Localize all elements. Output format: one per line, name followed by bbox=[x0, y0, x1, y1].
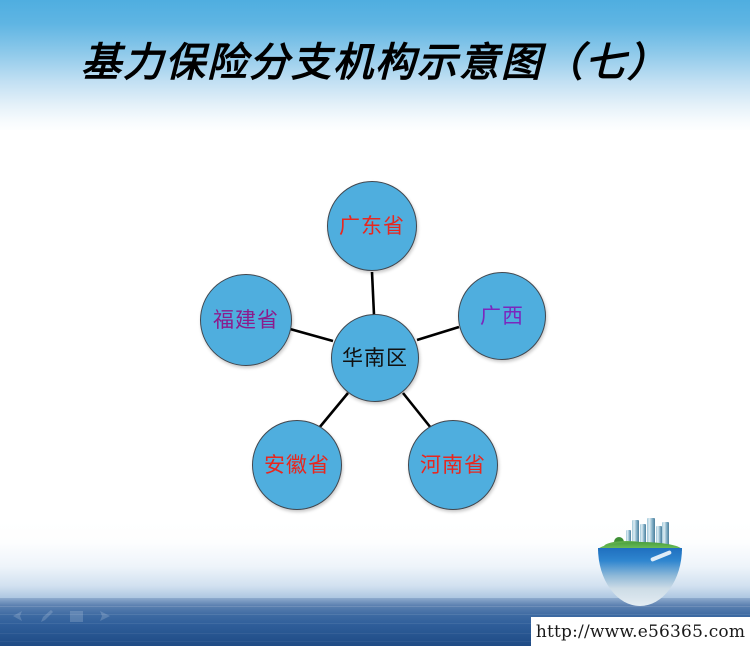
next-arrow-icon[interactable] bbox=[95, 607, 115, 625]
diagram-node-label: 华南区 bbox=[342, 348, 408, 369]
connector-center-to-anhui bbox=[319, 393, 348, 428]
connector-center-to-guangxi bbox=[417, 327, 459, 340]
diagram-node-anhui[interactable]: 安徽省 bbox=[252, 420, 342, 510]
diagram-node-label: 福建省 bbox=[213, 310, 279, 331]
pen-icon[interactable] bbox=[37, 607, 57, 625]
connector-center-to-fujian bbox=[290, 329, 333, 341]
watermark-bar: http://www.e56365.com bbox=[531, 617, 750, 646]
slideshow-nav-controls[interactable] bbox=[8, 607, 120, 627]
diagram-node-guangxi[interactable]: 广西 bbox=[458, 272, 546, 360]
diagram-node-henan[interactable]: 河南省 bbox=[408, 420, 498, 510]
diagram-node-label: 安徽省 bbox=[264, 455, 330, 476]
connector-center-to-guangdong bbox=[372, 272, 374, 315]
diagram-node-fujian[interactable]: 福建省 bbox=[200, 274, 292, 366]
diagram-node-label: 广东省 bbox=[339, 216, 405, 237]
globe-city-graphic bbox=[592, 520, 688, 606]
globe-sphere bbox=[598, 548, 682, 606]
previous-arrow-icon[interactable] bbox=[8, 607, 28, 625]
diagram-node-label: 河南省 bbox=[420, 455, 486, 476]
connector-center-to-henan bbox=[403, 393, 431, 428]
watermark-url: http://www.e56365.com bbox=[536, 622, 745, 642]
diagram-node-center-huanan[interactable]: 华南区 bbox=[331, 314, 419, 402]
menu-icon[interactable] bbox=[66, 607, 86, 625]
diagram-node-guangdong[interactable]: 广东省 bbox=[327, 181, 417, 271]
slide-canvas: 基力保险分支机构示意图（七） 华南区 广东省 福建省 广西 安徽省 bbox=[0, 0, 750, 646]
diagram-node-label: 广西 bbox=[480, 306, 524, 327]
